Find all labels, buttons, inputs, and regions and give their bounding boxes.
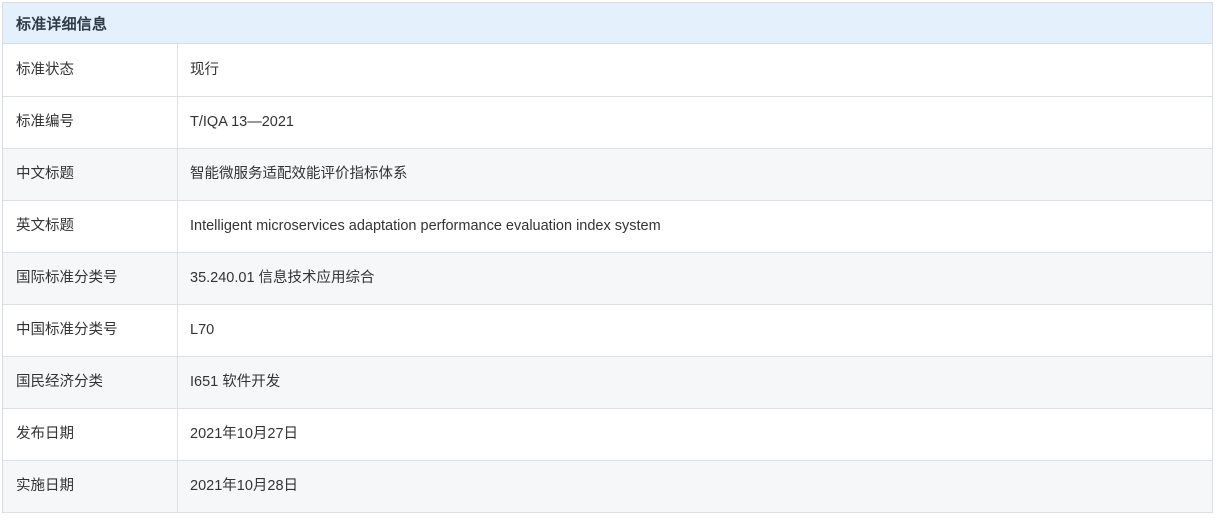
table-body: 标准状态 现行 标准编号 T/IQA 13—2021 中文标题 智能微服务适配效… (3, 44, 1212, 512)
row-label: 中文标题 (3, 148, 178, 200)
row-value: 2021年10月27日 (178, 408, 1213, 460)
panel-header: 标准详细信息 (3, 3, 1212, 44)
table-row: 中国标准分类号 L70 (3, 304, 1212, 356)
row-value: Intelligent microservices adaptation per… (178, 200, 1213, 252)
standard-detail-table: 标准状态 现行 标准编号 T/IQA 13—2021 中文标题 智能微服务适配效… (3, 44, 1212, 513)
row-value: 现行 (178, 44, 1213, 96)
row-value: 智能微服务适配效能评价指标体系 (178, 148, 1213, 200)
row-value: 2021年10月28日 (178, 460, 1213, 512)
row-label: 中国标准分类号 (3, 304, 178, 356)
table-row: 英文标题 Intelligent microservices adaptatio… (3, 200, 1212, 252)
row-label: 国际标准分类号 (3, 252, 178, 304)
row-value: T/IQA 13—2021 (178, 96, 1213, 148)
row-label: 英文标题 (3, 200, 178, 252)
row-label: 标准编号 (3, 96, 178, 148)
table-row: 实施日期 2021年10月28日 (3, 460, 1212, 512)
row-value: 35.240.01 信息技术应用综合 (178, 252, 1213, 304)
table-row: 标准状态 现行 (3, 44, 1212, 96)
table-row: 国际标准分类号 35.240.01 信息技术应用综合 (3, 252, 1212, 304)
table-row: 标准编号 T/IQA 13—2021 (3, 96, 1212, 148)
table-row: 国民经济分类 I651 软件开发 (3, 356, 1212, 408)
row-label: 标准状态 (3, 44, 178, 96)
row-label: 实施日期 (3, 460, 178, 512)
row-value: L70 (178, 304, 1213, 356)
table-row: 发布日期 2021年10月27日 (3, 408, 1212, 460)
row-label: 国民经济分类 (3, 356, 178, 408)
row-label: 发布日期 (3, 408, 178, 460)
table-row: 中文标题 智能微服务适配效能评价指标体系 (3, 148, 1212, 200)
row-value: I651 软件开发 (178, 356, 1213, 408)
page-title: 标准详细信息 (16, 13, 107, 34)
standard-detail-panel: 标准详细信息 标准状态 现行 标准编号 T/IQA 13—2021 中文标题 智… (2, 2, 1213, 513)
